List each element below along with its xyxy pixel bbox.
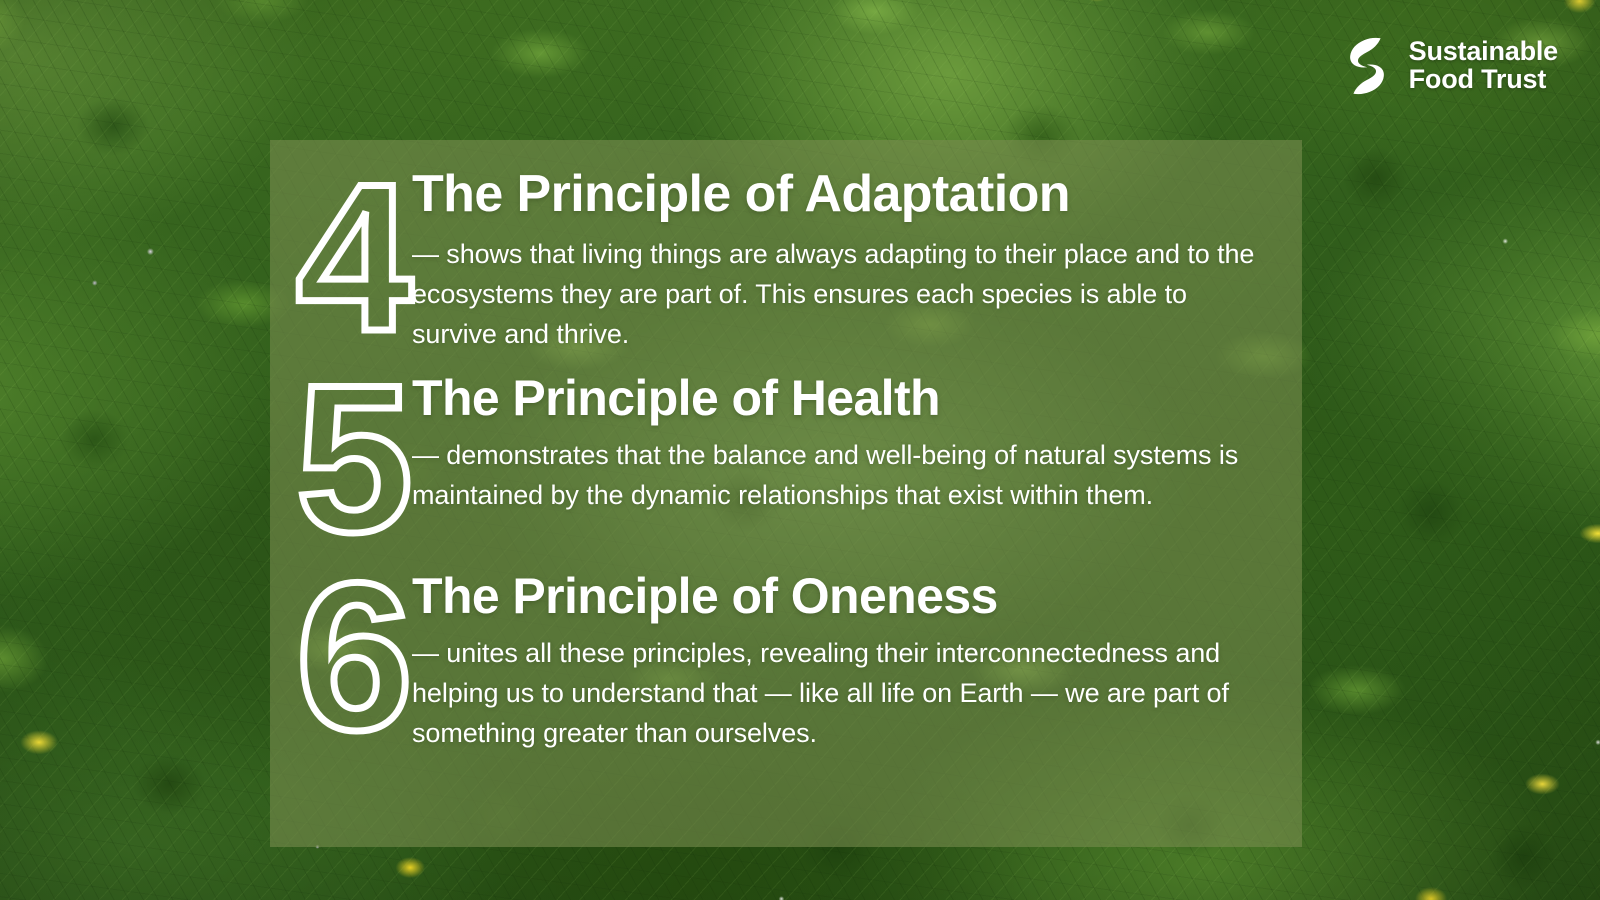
principle-number-6-glyph: 6 (296, 539, 413, 774)
sustainable-food-trust-s-mark-icon (1339, 36, 1395, 96)
principle-text-oneness: The Principle of Oneness — unites all th… (412, 569, 1272, 754)
principles-panel: 4 The Principle of Adaptation — shows th… (270, 140, 1302, 847)
slide-canvas: Sustainable Food Trust 4 The Principle o… (0, 0, 1600, 900)
principle-title-oneness: The Principle of Oneness (412, 571, 1272, 622)
principle-block-adaptation: 4 The Principle of Adaptation — shows th… (292, 166, 1272, 355)
brand-logo: Sustainable Food Trust (1339, 36, 1558, 96)
principle-body-health: — demonstrates that the balance and well… (412, 436, 1272, 516)
principle-number-4-glyph: 4 (296, 140, 413, 375)
principle-number-6: 6 (292, 571, 410, 751)
principle-body-adaptation: — shows that living things are always ad… (412, 235, 1272, 355)
principle-block-oneness: 6 The Principle of Oneness — unites all … (292, 569, 1272, 754)
principle-title-health: The Principle of Health (412, 373, 1272, 424)
principle-text-health: The Principle of Health — demonstrates t… (412, 371, 1272, 516)
principle-number-5: 5 (292, 373, 410, 553)
principle-title-adaptation: The Principle of Adaptation (412, 168, 1272, 221)
principle-text-adaptation: The Principle of Adaptation — shows that… (412, 166, 1272, 355)
principle-block-health: 5 The Principle of Health — demonstrates… (292, 371, 1272, 553)
principle-body-oneness: — unites all these principles, revealing… (412, 634, 1272, 754)
brand-name: Sustainable Food Trust (1409, 38, 1558, 93)
principle-number-4: 4 (292, 172, 410, 352)
